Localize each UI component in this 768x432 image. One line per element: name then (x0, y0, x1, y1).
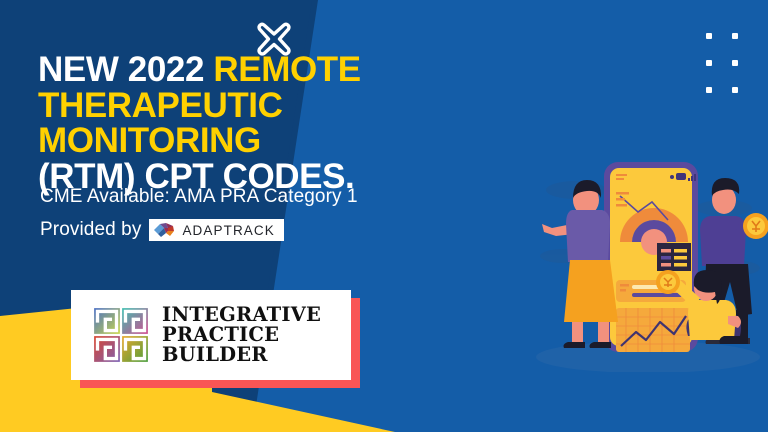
provided-by-label: Provided by (40, 219, 141, 241)
cme-availability-text: CME Available: AMA PRA Category 1 (40, 186, 358, 208)
dot-grid-icon (706, 33, 758, 114)
headline-line1-white: NEW 2022 (38, 50, 213, 89)
integrative-practice-builder-mark-icon (93, 307, 149, 363)
people-mobile-analytics-illustration (528, 150, 768, 372)
adaptrack-logo: ADAPTRACK (149, 219, 283, 241)
headline-line1-yellow: REMOTE (213, 50, 360, 89)
page-title: NEW 2022 REMOTE THERAPEUTIC MONITORING (… (38, 52, 508, 195)
headline-line2: THERAPEUTIC MONITORING (38, 86, 283, 161)
banner-canvas: NEW 2022 REMOTE THERAPEUTIC MONITORING (… (0, 0, 768, 432)
provider-row: Provided by ADAPTRACK (40, 219, 284, 241)
adaptrack-mark-icon (153, 222, 175, 238)
sponsor-wordmark: INTEGRATIVE PRACTICE BUILDER (162, 305, 321, 365)
sponsor-line-3: BUILDER (162, 343, 268, 366)
adaptrack-wordmark: ADAPTRACK (182, 223, 274, 238)
sponsor-card: INTEGRATIVE PRACTICE BUILDER (71, 290, 351, 380)
